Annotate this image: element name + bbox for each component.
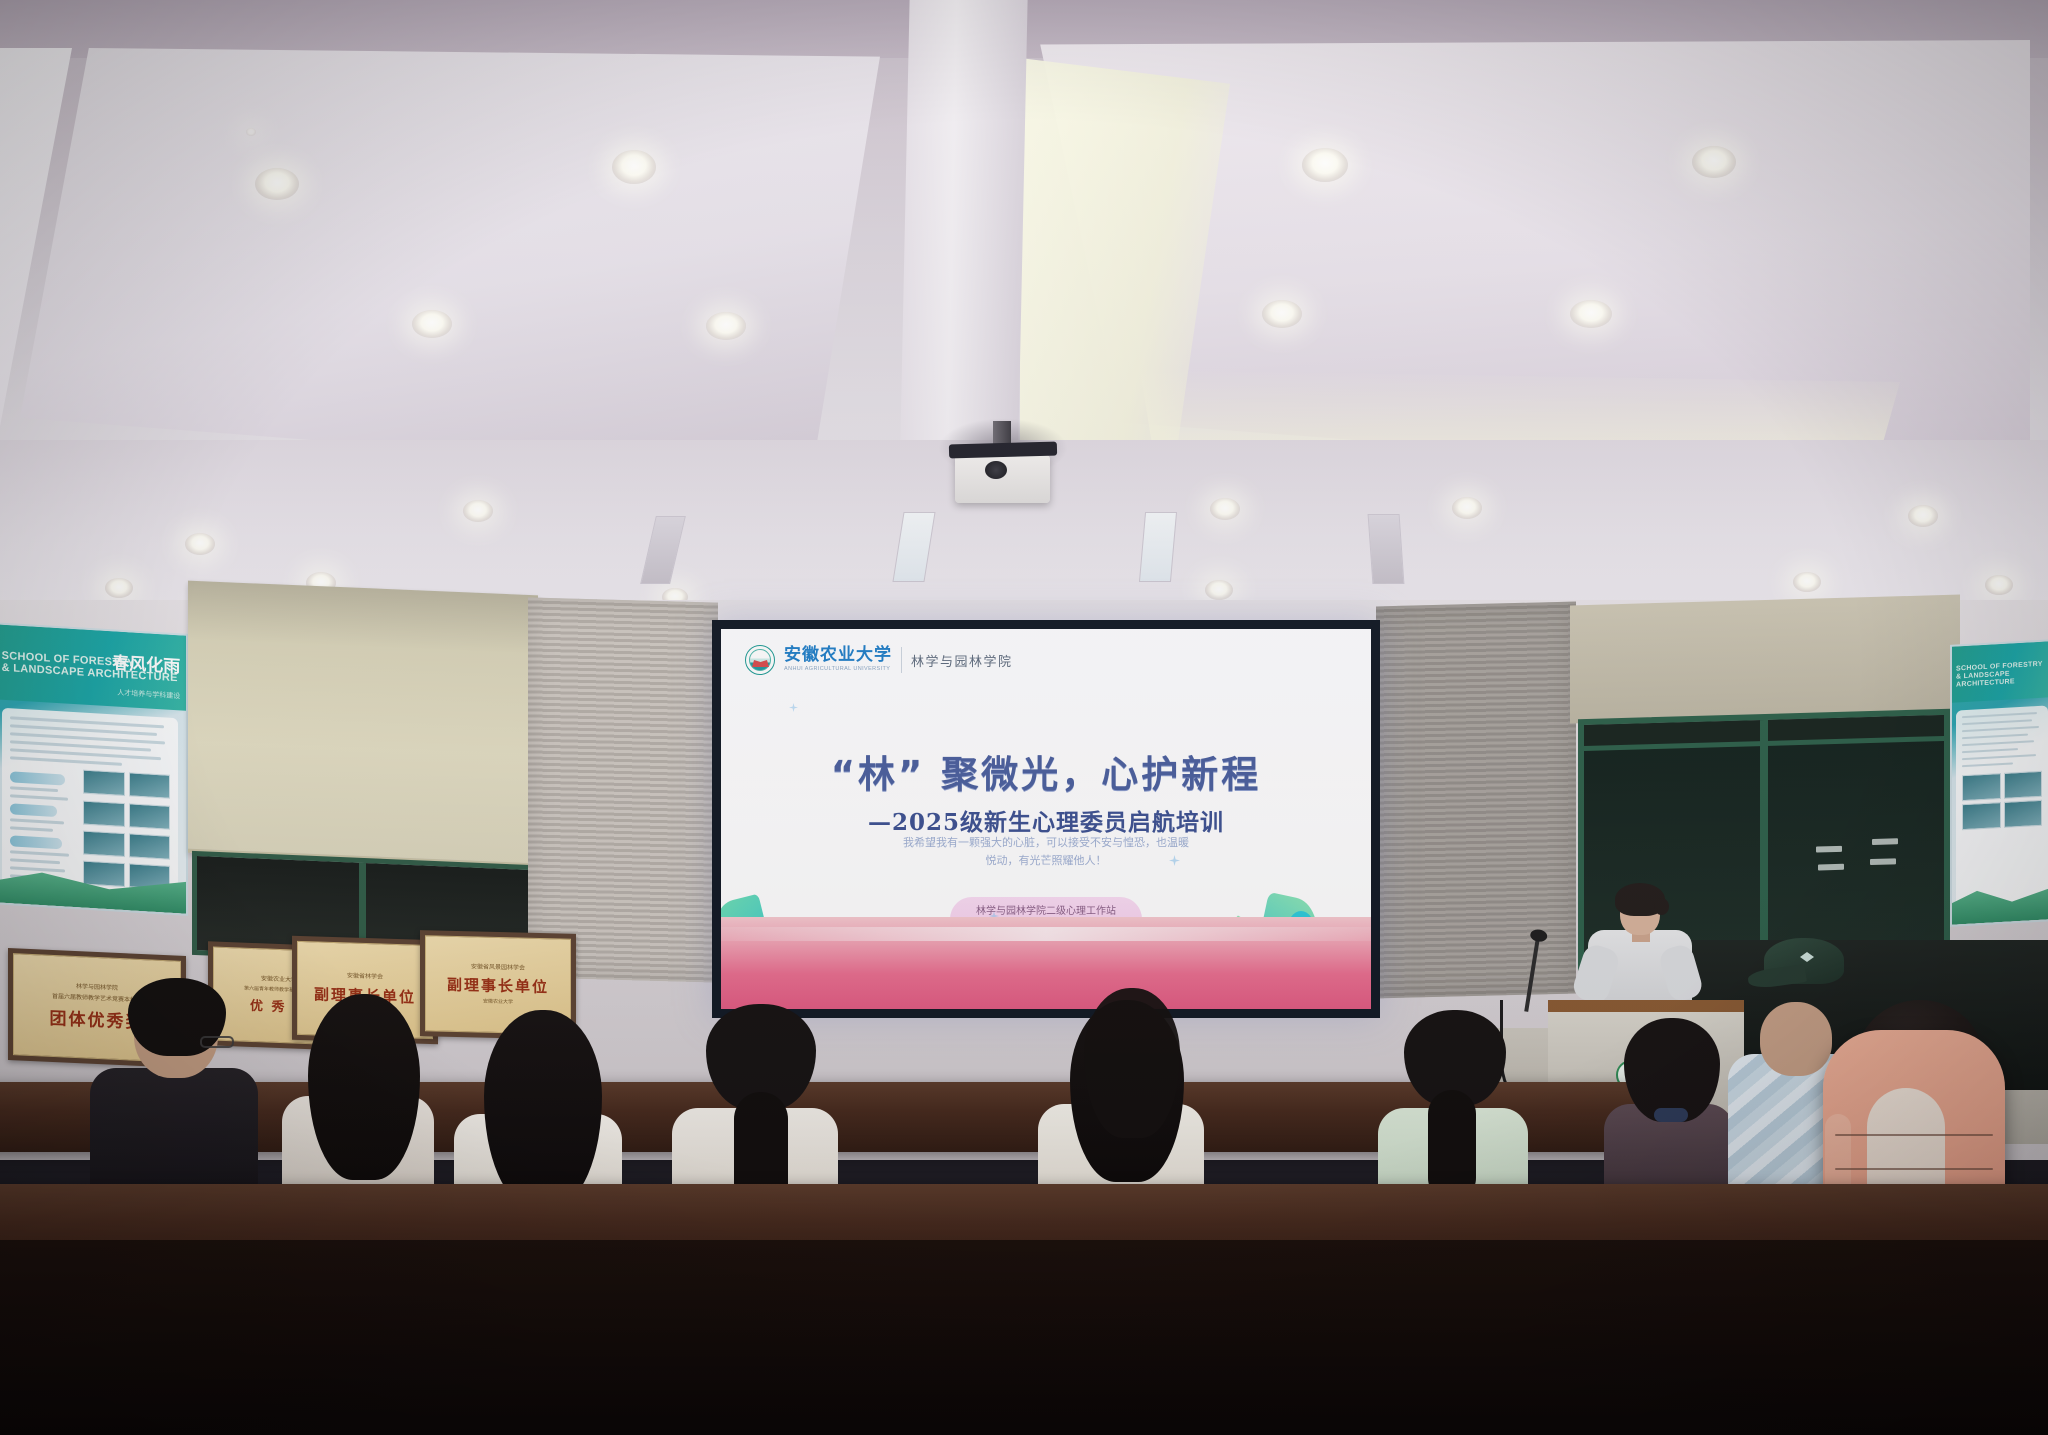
right-wall-header	[1570, 595, 1960, 724]
roller-blind-left[interactable]	[188, 581, 538, 868]
slide: 安徽农业大学 ANHUI AGRICULTURAL UNIVERSITY 林学与…	[721, 629, 1371, 1009]
department-name: 林学与园林学院	[911, 651, 1013, 670]
projection-screen: 安徽农业大学 ANHUI AGRICULTURAL UNIVERSITY 林学与…	[712, 620, 1380, 1018]
floor-foreground	[0, 1240, 2048, 1435]
projector-lens-icon	[985, 461, 1007, 479]
slide-logo-header: 安徽农业大学 ANHUI AGRICULTURAL UNIVERSITY 林学与…	[745, 645, 1013, 675]
ceiling-downlight	[255, 168, 299, 200]
ceiling-downlight	[1908, 505, 1938, 527]
student-hair	[484, 1010, 602, 1206]
ceiling-projector	[955, 455, 1050, 503]
ceiling-downlight	[105, 578, 133, 598]
hair-tie-icon	[1654, 1108, 1688, 1122]
ceiling-downlight	[246, 128, 256, 136]
lecture-hall-photo: SCHOOL OF FORESTRY & LANDSCAPE ARCHITECT…	[0, 0, 2048, 1435]
student-hair	[308, 994, 420, 1180]
ceiling-downlight	[612, 150, 656, 184]
ceiling-downlight	[1793, 572, 1821, 592]
ceiling-downlight	[1570, 300, 1612, 328]
university-crest-icon	[745, 645, 775, 675]
student-torso	[90, 1068, 258, 1196]
poster-left-body	[2, 708, 179, 896]
ceiling-downlight	[1262, 300, 1302, 328]
university-name-cn: 安徽农业大学	[784, 647, 892, 664]
ceiling-coffer-left	[0, 48, 900, 468]
ceiling-downlight	[412, 310, 452, 338]
slide-title-main: “林” 聚微光，心护新程	[721, 744, 1371, 798]
glasses-icon	[200, 1036, 234, 1048]
sparkle-icon	[789, 703, 798, 712]
presenter-hair-bun	[1654, 898, 1669, 915]
coffered-ceiling	[0, 0, 2048, 600]
ceiling-downlight	[1302, 148, 1348, 182]
poster-left: SCHOOL OF FORESTRY & LANDSCAPE ARCHITECT…	[0, 622, 188, 916]
student-hair	[1084, 988, 1180, 1138]
university-name-en: ANHUI AGRICULTURAL UNIVERSITY	[784, 667, 892, 673]
ceiling-downlight	[185, 533, 215, 555]
projector-bracket	[949, 442, 1057, 459]
ceiling-air-slot	[1368, 514, 1405, 584]
slide-body-text: 我希望我有一颗强大的心脏，可以接受不安与惶恐，也温暖 悦动，有光芒照耀他人！	[812, 834, 1280, 870]
ceiling-downlight	[1452, 497, 1482, 519]
slide-bottom-band	[721, 917, 1371, 1009]
ceiling-coffer-right	[1020, 40, 2048, 490]
poster-left-title-cn: 春风化雨	[112, 654, 180, 678]
ceiling-downlight	[1692, 146, 1736, 178]
louvre-wall-panel-left	[528, 597, 718, 982]
ceiling-downlight	[1985, 575, 2013, 595]
student-head	[1760, 1002, 1832, 1076]
slide-title-sub: —2025级新生心理委员启航培训	[721, 803, 1371, 837]
presenter	[1584, 888, 1694, 1014]
logo-divider	[901, 647, 902, 673]
ceiling-downlight	[706, 312, 746, 340]
slide-title-block: “林” 聚微光，心护新程 —2025级新生心理委员启航培训	[721, 744, 1371, 837]
ceiling-downlight	[463, 500, 493, 522]
ceiling-downlight	[1210, 498, 1240, 520]
poster-right: SCHOOL OF FORESTRY & LANDSCAPE ARCHITECT…	[1950, 639, 2048, 927]
baseball-cap	[1756, 938, 1852, 996]
student-hair	[1624, 1018, 1720, 1122]
ceiling-beam-center	[900, 0, 1027, 440]
ceiling-paper-strip	[1139, 512, 1177, 582]
ceiling-downlight	[1205, 580, 1233, 600]
